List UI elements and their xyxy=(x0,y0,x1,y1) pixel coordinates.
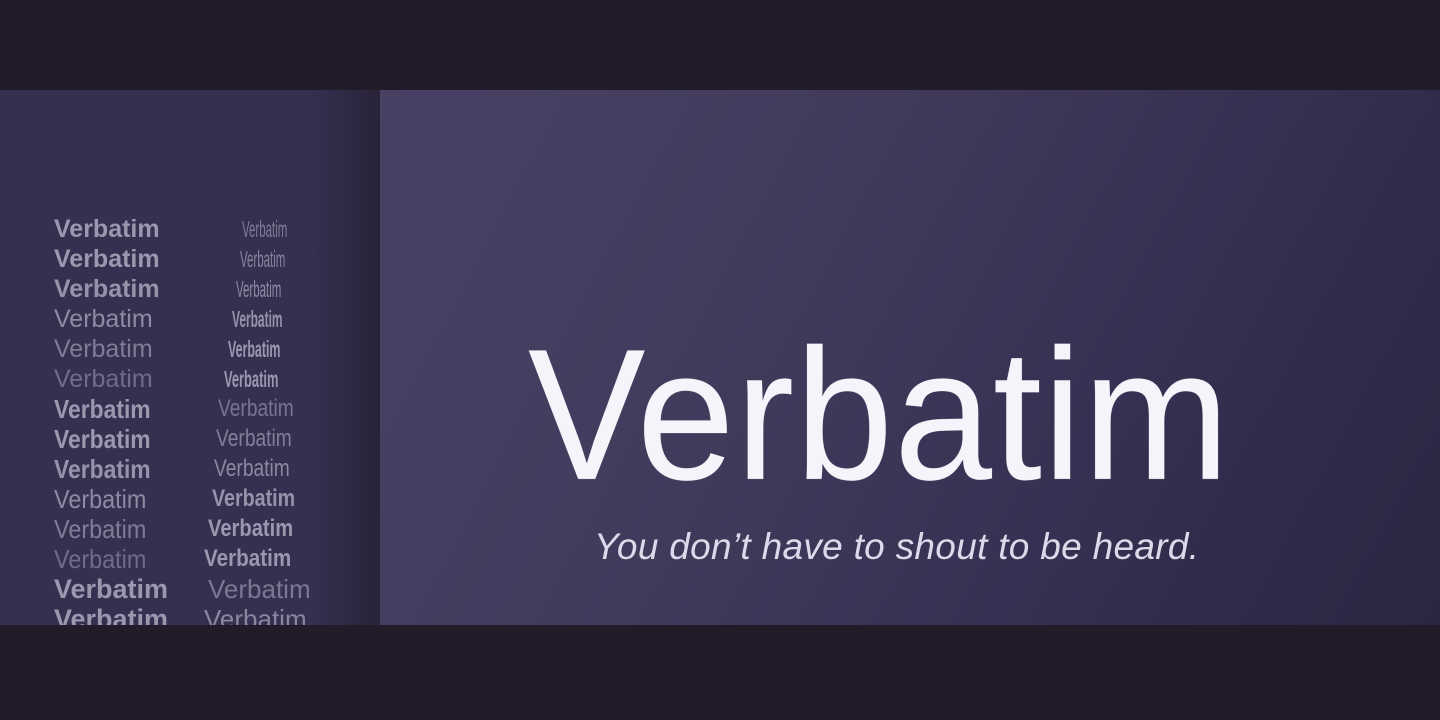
specimen-row: VerbatimVerbatim xyxy=(0,214,380,244)
specimen-row: VerbatimVerbatim xyxy=(0,304,380,334)
specimen-sample-left: Verbatim xyxy=(54,214,160,244)
specimen-sample-right: Verbatim xyxy=(214,454,290,484)
display-title: Verbatim xyxy=(528,322,1231,509)
specimen-row: VerbatimVerbatim xyxy=(0,244,380,274)
specimen-row: VerbatimVerbatim xyxy=(0,424,380,454)
content-strip: Verbatim You don’t have to shout to be h… xyxy=(0,90,1440,625)
specimen-sample-right: Verbatim xyxy=(242,214,287,244)
specimen-row: VerbatimVerbatim xyxy=(0,454,380,484)
specimen-sample-left: Verbatim xyxy=(54,514,146,544)
specimen-sample-left: Verbatim xyxy=(54,244,160,274)
specimen-row: VerbatimVerbatim xyxy=(0,274,380,304)
specimen-row: VerbatimVerbatim xyxy=(0,334,380,364)
specimen-panel: VerbatimVerbatimVerbatimVerbatimVerbatim… xyxy=(0,90,380,625)
specimen-row: VerbatimVerbatim xyxy=(0,364,380,394)
specimen-sample-right: Verbatim xyxy=(208,514,293,544)
specimen-row: VerbatimVerbatim xyxy=(0,574,380,604)
specimen-sample-left: Verbatim xyxy=(54,334,153,364)
specimen-row: VerbatimVerbatim xyxy=(0,514,380,544)
specimen-sample-right: Verbatim xyxy=(212,484,295,514)
specimen-sample-right: Verbatim xyxy=(218,394,294,424)
specimen-sample-left: Verbatim xyxy=(54,424,151,454)
specimen-sample-right: Verbatim xyxy=(216,424,292,454)
specimen-weight-list: VerbatimVerbatimVerbatimVerbatimVerbatim… xyxy=(0,90,380,625)
specimen-sample-left: Verbatim xyxy=(54,394,151,424)
specimen-sample-right: Verbatim xyxy=(204,544,291,574)
specimen-sample-right: Verbatim xyxy=(232,304,283,334)
specimen-sample-right: Verbatim xyxy=(228,334,280,364)
specimen-sample-right: Verbatim xyxy=(236,274,281,304)
specimen-row: VerbatimVerbatim xyxy=(0,604,380,625)
specimen-row: VerbatimVerbatim xyxy=(0,544,380,574)
specimen-sample-left: Verbatim xyxy=(54,484,146,514)
specimen-row: VerbatimVerbatim xyxy=(0,484,380,514)
specimen-sample-right: Verbatim xyxy=(208,574,311,604)
specimen-sample-left: Verbatim xyxy=(54,364,153,394)
specimen-sample-left: Verbatim xyxy=(54,454,151,484)
type-specimen-poster: Verbatim You don’t have to shout to be h… xyxy=(0,0,1440,720)
specimen-sample-left: Verbatim xyxy=(54,544,146,574)
specimen-sample-left: Verbatim xyxy=(54,274,160,304)
specimen-sample-left: Verbatim xyxy=(54,604,168,625)
bottom-band xyxy=(0,625,1440,720)
specimen-row: VerbatimVerbatim xyxy=(0,394,380,424)
specimen-sample-left: Verbatim xyxy=(54,574,168,604)
specimen-sample-right: Verbatim xyxy=(240,244,285,274)
top-band xyxy=(0,0,1440,90)
display-tagline: You don’t have to shout to be heard. xyxy=(594,528,1199,565)
specimen-sample-right: Verbatim xyxy=(224,364,278,394)
specimen-sample-right: Verbatim xyxy=(204,604,307,625)
specimen-sample-left: Verbatim xyxy=(54,304,153,334)
